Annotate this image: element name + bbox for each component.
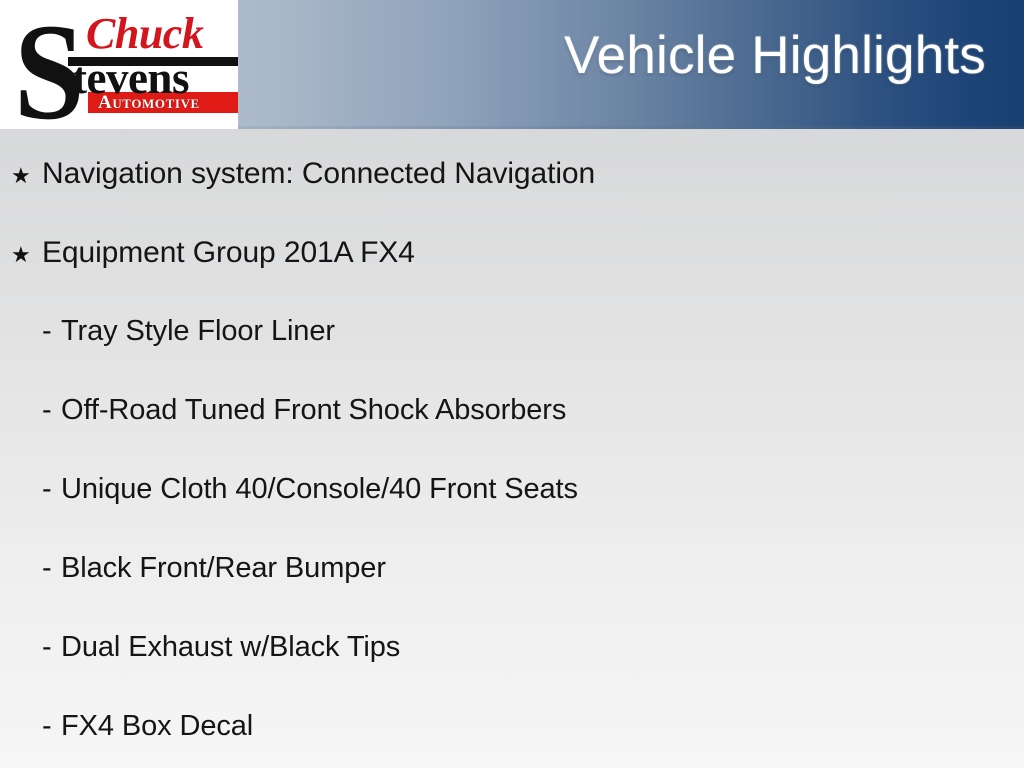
highlight-item: -Black Front/Rear Bumper <box>42 554 386 583</box>
logo-brand-first-word: Chuck <box>86 12 203 56</box>
star-bullet-icon: ★ <box>11 245 42 267</box>
highlight-item: -FX4 Box Decal <box>42 712 253 741</box>
dash-bullet-icon: - <box>42 712 61 741</box>
highlight-item-label: FX4 Box Decal <box>61 712 253 741</box>
highlight-item-label: Navigation system: Connected Navigation <box>42 159 595 189</box>
star-bullet-icon: ★ <box>11 166 42 188</box>
highlight-item-label: Tray Style Floor Liner <box>61 317 335 346</box>
dash-bullet-icon: - <box>42 475 61 504</box>
dash-bullet-icon: - <box>42 317 61 346</box>
highlight-item: -Dual Exhaust w/Black Tips <box>42 633 400 662</box>
highlight-item-label: Equipment Group 201A FX4 <box>42 238 415 268</box>
highlight-item: ★Navigation system: Connected Navigation <box>11 159 595 189</box>
highlight-item: -Tray Style Floor Liner <box>42 317 335 346</box>
highlight-item-label: Unique Cloth 40/Console/40 Front Seats <box>61 475 578 504</box>
dealer-logo[interactable]: S Chuck tevens Automotive <box>0 0 238 129</box>
dash-bullet-icon: - <box>42 396 61 425</box>
slide-vehicle-highlights: Vehicle Highlights S Chuck tevens Automo… <box>0 0 1024 768</box>
highlight-item: -Off-Road Tuned Front Shock Absorbers <box>42 396 566 425</box>
page-title: Vehicle Highlights <box>564 29 986 82</box>
highlight-item-label: Black Front/Rear Bumper <box>61 554 386 583</box>
dealer-logo-artwork: S Chuck tevens Automotive <box>0 0 238 129</box>
highlight-item-label: Dual Exhaust w/Black Tips <box>61 633 400 662</box>
highlights-list: ★Navigation system: Connected Navigation… <box>0 129 1024 768</box>
highlight-item: -Unique Cloth 40/Console/40 Front Seats <box>42 475 578 504</box>
dash-bullet-icon: - <box>42 633 61 662</box>
highlight-item-label: Off-Road Tuned Front Shock Absorbers <box>61 396 566 425</box>
logo-tagline-text: Automotive <box>98 93 200 113</box>
highlight-item: ★Equipment Group 201A FX4 <box>11 238 415 268</box>
dash-bullet-icon: - <box>42 554 61 583</box>
